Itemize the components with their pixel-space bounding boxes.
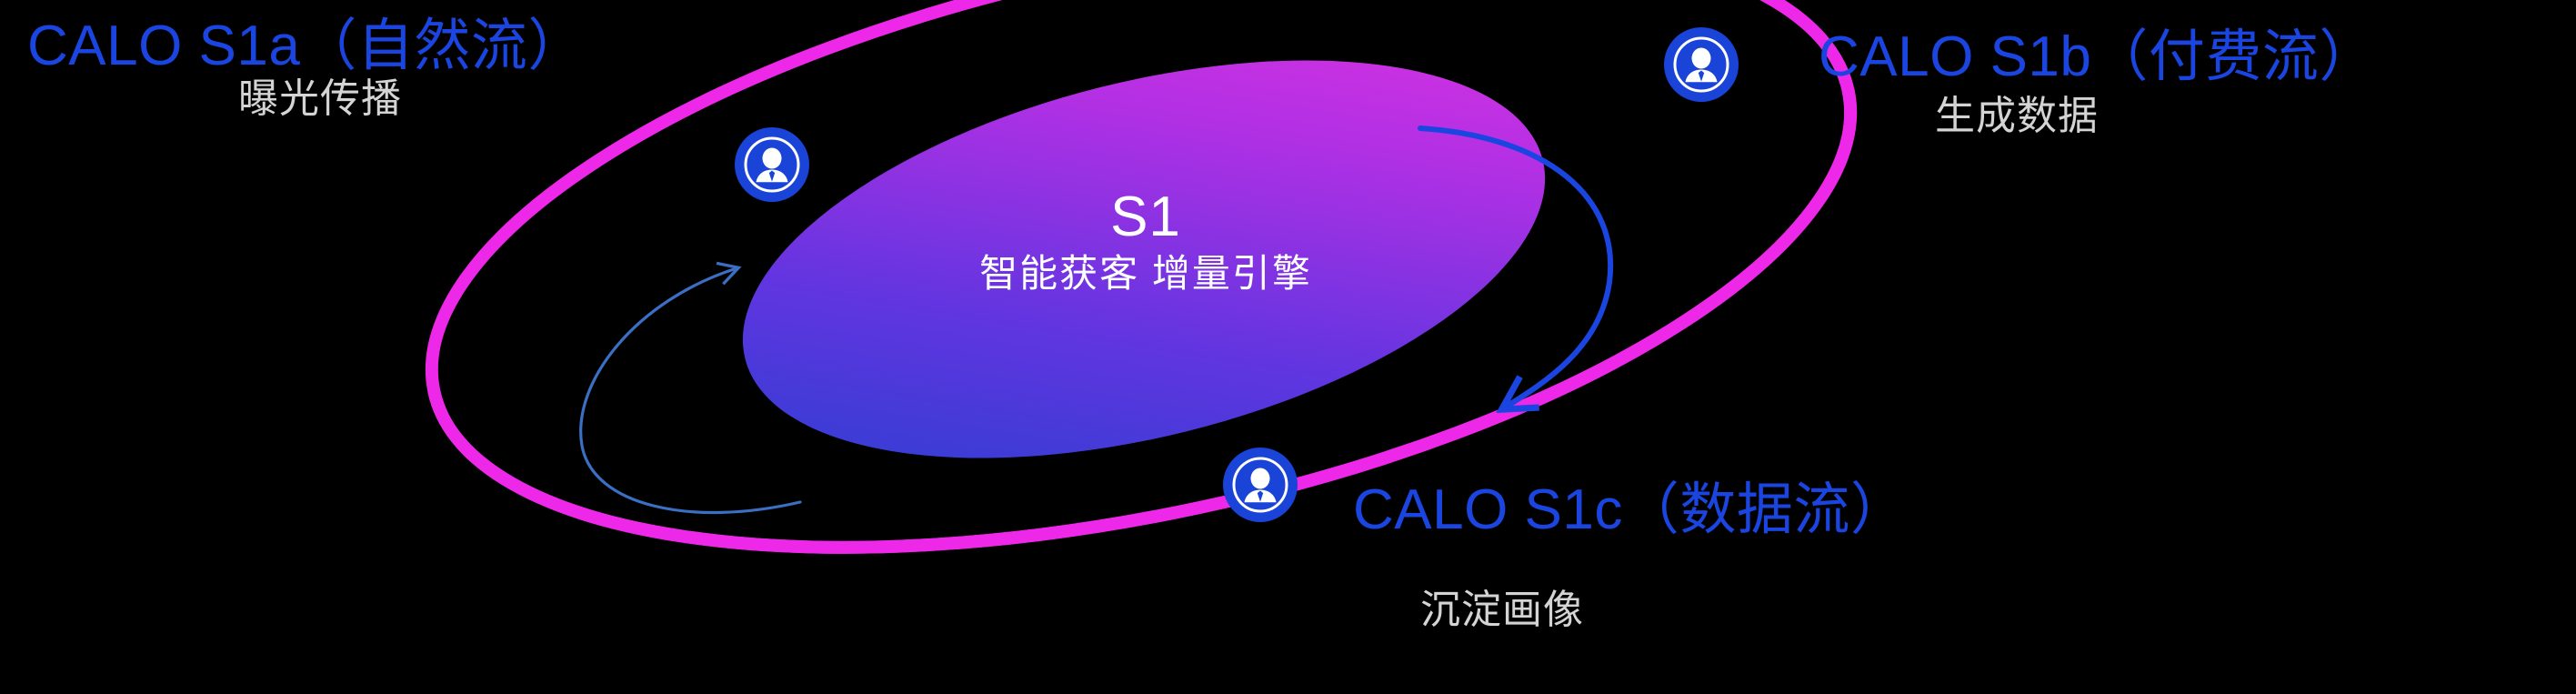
node-s1a-subtitle: 曝光传播 <box>238 78 402 120</box>
person-avatar-icon <box>1223 448 1298 522</box>
person-avatar-icon <box>735 127 809 202</box>
node-s1a[interactable] <box>735 127 809 202</box>
node-s1b-subtitle: 生成数据 <box>1935 96 2099 137</box>
node-s1b[interactable] <box>1664 27 1739 102</box>
node-s1a-title: CALO S1a（自然流） <box>27 16 585 75</box>
node-s1c-subtitle: 沉淀画像 <box>1420 589 1584 631</box>
person-avatar-icon <box>1664 27 1739 102</box>
core-ellipse <box>702 0 1585 531</box>
node-s1c[interactable] <box>1223 448 1298 522</box>
node-s1c-title: CALO S1c（数据流） <box>1353 480 1907 539</box>
diagram-canvas: S1 智能获客 增量引擎 CALO S1a（自然流） 曝光传播 CALO S1b… <box>0 0 2576 694</box>
node-s1b-title: CALO S1b（付费流） <box>1819 27 2376 86</box>
